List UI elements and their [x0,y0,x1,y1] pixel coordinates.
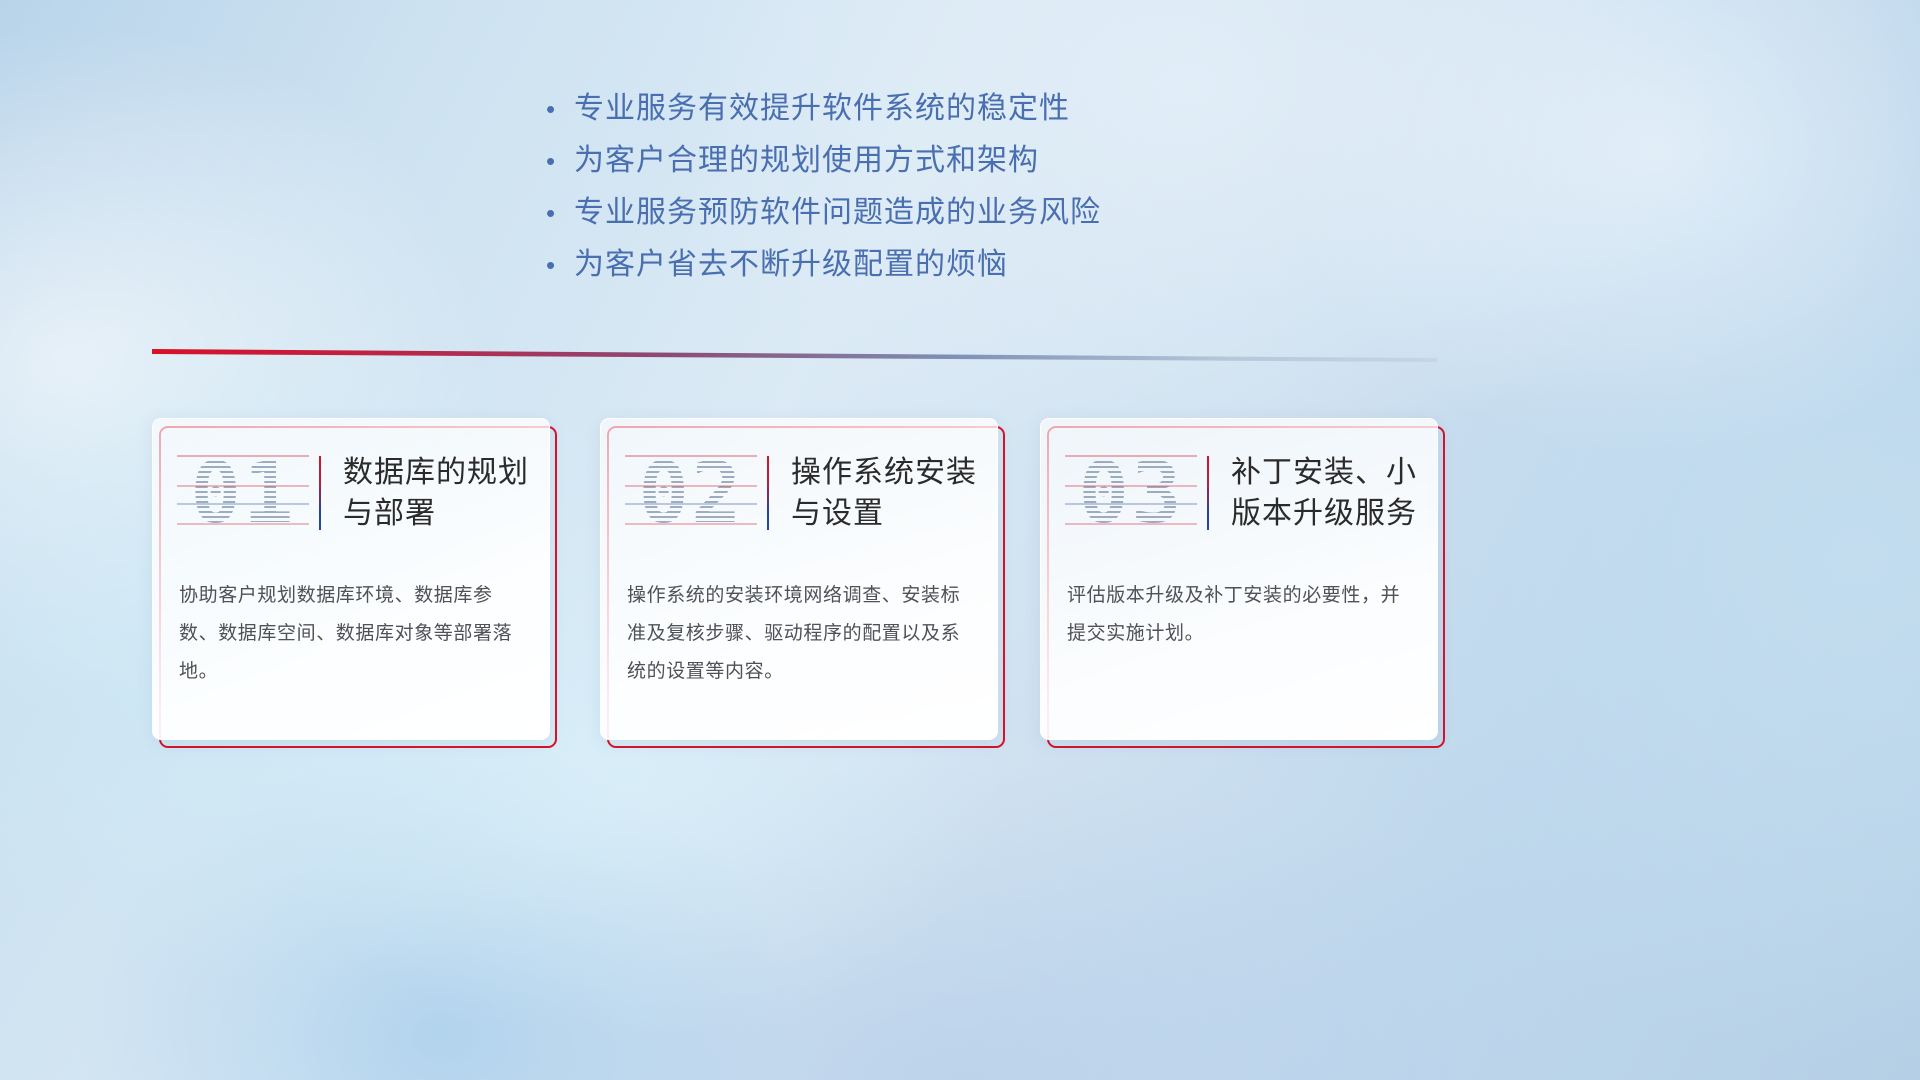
card-accent-bar [319,456,321,530]
bullet-marker-icon: • [540,194,574,232]
card-header: 03 补丁安装、小 版本升级服务 [1041,437,1437,549]
card-accent-bar [767,456,769,530]
slide-canvas: • 专业服务有效提升软件系统的稳定性 • 为客户合理的规划使用方式和架构 • 专… [0,0,1920,1080]
bullet-text: 为客户省去不断升级配置的烦恼 [574,246,1008,284]
card-number: 02 [625,441,757,545]
card-body-text: 协助客户规划数据库环境、数据库参数、数据库空间、数据库对象等部署落地。 [179,577,523,691]
bullet-text: 专业服务预防软件问题造成的业务风险 [574,194,1101,232]
list-item: • 为客户省去不断升级配置的烦恼 [540,246,1440,298]
card-panel: 02 操作系统安装 与设置 操作系统的安装环境网络调查、安装标准及复核步骤、驱动… [600,418,998,740]
card-panel: 01 数据库的规划 与部署 协助客户规划数据库环境、数据库参数、数据库空间、数据… [152,418,550,740]
bullet-marker-icon: • [540,142,574,180]
benefits-bullet-list: • 专业服务有效提升软件系统的稳定性 • 为客户合理的规划使用方式和架构 • 专… [540,90,1440,298]
bullet-text: 专业服务有效提升软件系统的稳定性 [574,90,1070,128]
card-number-glitch-overlay [1065,441,1197,545]
list-item: • 为客户合理的规划使用方式和架构 [540,142,1440,194]
service-card-03[interactable]: 03 补丁安装、小 版本升级服务 评估版本升级及补丁安装的必要性，并提交实施计划… [1040,418,1438,740]
card-title: 操作系统安装 与设置 [791,452,977,534]
card-number-glitch-overlay [177,441,309,545]
divider [152,348,1437,364]
card-header: 01 数据库的规划 与部署 [153,437,549,549]
service-card-02[interactable]: 02 操作系统安装 与设置 操作系统的安装环境网络调查、安装标准及复核步骤、驱动… [600,418,998,740]
list-item: • 专业服务预防软件问题造成的业务风险 [540,194,1440,246]
bullet-marker-icon: • [540,246,574,284]
card-header: 02 操作系统安装 与设置 [601,437,997,549]
bullet-marker-icon: • [540,90,574,128]
card-title: 数据库的规划 与部署 [343,452,529,534]
card-number: 01 [177,441,309,545]
service-card-01[interactable]: 01 数据库的规划 与部署 协助客户规划数据库环境、数据库参数、数据库空间、数据… [152,418,550,740]
card-title: 补丁安装、小 版本升级服务 [1231,452,1417,534]
list-item: • 专业服务有效提升软件系统的稳定性 [540,90,1440,142]
card-number-glitch-overlay [625,441,757,545]
card-body-text: 操作系统的安装环境网络调查、安装标准及复核步骤、驱动程序的配置以及系统的设置等内… [627,577,971,691]
card-accent-bar [1207,456,1209,530]
card-body-text: 评估版本升级及补丁安装的必要性，并提交实施计划。 [1067,577,1411,653]
card-number: 03 [1065,441,1197,545]
bullet-text: 为客户合理的规划使用方式和架构 [574,142,1039,180]
service-card-row: 01 数据库的规划 与部署 协助客户规划数据库环境、数据库参数、数据库空间、数据… [0,418,1920,758]
card-panel: 03 补丁安装、小 版本升级服务 评估版本升级及补丁安装的必要性，并提交实施计划… [1040,418,1438,740]
